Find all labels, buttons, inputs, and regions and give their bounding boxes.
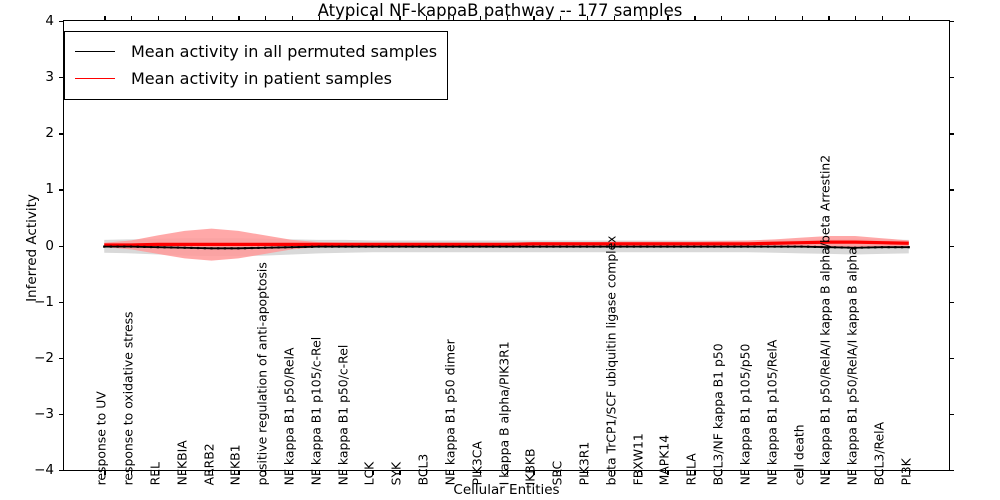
y-tick-mark-right (949, 414, 954, 415)
permuted-data-marker (881, 246, 883, 248)
y-tick-mark (59, 189, 64, 190)
x-tick-mark-top (909, 16, 910, 21)
permuted-data-marker (552, 246, 554, 248)
x-tick-label: PIK3CA (471, 441, 483, 485)
permuted-data-marker (814, 246, 816, 248)
permuted-data-marker (452, 246, 454, 248)
permuted-data-marker (874, 246, 876, 248)
x-tick-label: response to oxidative stress (123, 312, 135, 486)
y-tick-label: 0 (14, 238, 54, 254)
x-tick-mark-top (855, 16, 856, 21)
permuted-data-marker (318, 246, 320, 248)
y-tick-mark-right (949, 246, 954, 247)
x-tick-mark-top (507, 16, 508, 21)
permuted-data-marker (170, 246, 172, 248)
permuted-data-marker (432, 246, 434, 248)
y-tick-label: 3 (14, 69, 54, 85)
x-tick-label: NF kappa B1 p105/p50 (739, 344, 751, 486)
permuted-data-marker (458, 246, 460, 248)
y-tick-mark-right (949, 302, 954, 303)
x-tick-label: FBXW11 (632, 433, 644, 485)
permuted-data-marker (908, 246, 910, 248)
permuted-data-marker (532, 246, 534, 248)
x-tick-mark-top (212, 16, 213, 21)
permuted-data-marker (244, 247, 246, 249)
permuted-data-marker (727, 246, 729, 248)
permuted-data-marker (505, 246, 507, 248)
x-tick-mark-top (614, 16, 615, 21)
x-tick-label: NF kappa B1 p50/RelA (284, 348, 296, 486)
legend-label: Mean activity in patient samples (131, 69, 392, 88)
permuted-data-marker (365, 246, 367, 248)
permuted-data-marker (599, 246, 601, 248)
permuted-data-marker (479, 246, 481, 248)
legend-line-swatch (75, 51, 115, 52)
permuted-data-marker (861, 247, 863, 249)
y-tick-mark (59, 133, 64, 134)
x-tick-label: NF kappa B1 p105/RelA (766, 340, 778, 486)
permuted-data-marker (237, 247, 239, 249)
x-tick-label: NF kappa B1 p50/c-Rel (337, 345, 349, 486)
permuted-data-marker (184, 247, 186, 249)
permuted-data-marker (572, 246, 574, 248)
y-tick-label: 1 (14, 181, 54, 197)
permuted-data-marker (157, 246, 159, 248)
x-tick-mark-top (882, 16, 883, 21)
permuted-data-marker (385, 246, 387, 248)
x-tick-label: I kappa B alpha/PIK3R1 (498, 341, 510, 485)
permuted-data-marker (526, 246, 528, 248)
permuted-data-marker (217, 247, 219, 249)
permuted-data-marker (398, 246, 400, 248)
permuted-data-marker (646, 246, 648, 248)
permuted-data-marker (626, 246, 628, 248)
permuted-data-marker (713, 246, 715, 248)
permuted-data-marker (445, 246, 447, 248)
permuted-data-marker (485, 246, 487, 248)
permuted-data-marker (780, 246, 782, 248)
permuted-data-marker (378, 246, 380, 248)
y-tick-mark-right (949, 470, 954, 471)
chart-legend: Mean activity in all permuted samplesMea… (64, 31, 448, 100)
y-tick-mark (59, 246, 64, 247)
permuted-data-marker (412, 246, 414, 248)
permuted-data-marker (593, 246, 595, 248)
x-tick-mark-top (694, 16, 695, 21)
x-tick-mark-top (399, 16, 400, 21)
x-tick-label: NF kappa B1 p50 dimer (444, 339, 456, 485)
permuted-data-marker (291, 246, 293, 248)
permuted-data-marker (405, 246, 407, 248)
x-tick-mark-top (158, 16, 159, 21)
permuted-data-marker (639, 246, 641, 248)
permuted-data-marker (740, 246, 742, 248)
permuted-data-marker (733, 246, 735, 248)
permuted-data-marker (103, 246, 105, 248)
permuted-data-marker (760, 246, 762, 248)
x-tick-label: BCL3/NF kappa B1 p50 (713, 343, 725, 485)
permuted-data-marker (338, 246, 340, 248)
permuted-data-marker (841, 246, 843, 248)
permuted-data-marker (331, 246, 333, 248)
x-tick-mark-top (480, 16, 481, 21)
permuted-data-marker (163, 246, 165, 248)
x-tick-mark-top (667, 16, 668, 21)
permuted-data-marker (224, 247, 226, 249)
x-tick-mark-top (828, 16, 829, 21)
permuted-data-marker (800, 246, 802, 248)
x-tick-label: RELA (686, 453, 698, 485)
y-tick-label: 4 (14, 13, 54, 29)
permuted-data-marker (251, 247, 253, 249)
permuted-data-marker (619, 246, 621, 248)
x-tick-mark-top (292, 16, 293, 21)
permuted-data-marker (264, 247, 266, 249)
x-tick-mark-top (319, 16, 320, 21)
y-tick-label: −2 (14, 350, 54, 366)
x-tick-label: response to UV (96, 391, 108, 485)
permuted-data-marker (210, 247, 212, 249)
permuted-data-marker (231, 247, 233, 249)
x-tick-mark-top (426, 16, 427, 21)
y-tick-mark-right (949, 21, 954, 22)
permuted-data-marker (284, 246, 286, 248)
permuted-data-marker (512, 246, 514, 248)
permuted-data-marker (110, 246, 112, 248)
x-tick-mark-top (265, 16, 266, 21)
permuted-data-marker (579, 246, 581, 248)
permuted-data-marker (794, 246, 796, 248)
x-tick-label: cell death (793, 424, 805, 485)
permuted-data-marker (767, 246, 769, 248)
permuted-data-marker (566, 246, 568, 248)
permuted-data-marker (143, 246, 145, 248)
permuted-data-marker (586, 246, 588, 248)
x-tick-label: BCL3/RelA (874, 422, 886, 486)
permuted-data-marker (774, 246, 776, 248)
permuted-data-marker (465, 246, 467, 248)
x-tick-label: beta TrCP1/SCF ubiquitin ligase complex (605, 236, 617, 486)
x-tick-label: NF kappa B1 p50/RelA/I kappa B alpha (847, 247, 859, 485)
permuted-data-marker (867, 246, 869, 248)
x-tick-label: NF kappa B1 p50/RelA/I kappa B alpha/bet… (820, 155, 832, 486)
y-tick-mark-right (949, 77, 954, 78)
y-tick-mark (59, 470, 64, 471)
permuted-data-marker (499, 246, 501, 248)
permuted-data-marker (277, 246, 279, 248)
y-tick-mark-right (949, 358, 954, 359)
permuted-data-marker (391, 246, 393, 248)
permuted-data-marker (271, 247, 273, 249)
legend-label: Mean activity in all permuted samples (131, 42, 437, 61)
permuted-data-marker (304, 246, 306, 248)
y-tick-label: 2 (14, 125, 54, 141)
permuted-data-marker (787, 246, 789, 248)
permuted-data-marker (197, 247, 199, 249)
legend-line-swatch (75, 78, 115, 79)
x-tick-mark-top (721, 16, 722, 21)
permuted-data-marker (298, 246, 300, 248)
permuted-data-marker (519, 246, 521, 248)
legend-item: Mean activity in patient samples (75, 65, 437, 92)
x-tick-label: BCL3 (418, 454, 430, 486)
permuted-data-marker (747, 246, 749, 248)
permuted-data-marker (686, 246, 688, 248)
x-tick-mark-top (748, 16, 749, 21)
permuted-data-marker (894, 246, 896, 248)
x-tick-mark-top (533, 16, 534, 21)
chart-title: Atypical NF-kappaB pathway -- 177 sample… (0, 1, 1000, 20)
y-tick-label: −4 (14, 462, 54, 478)
x-tick-label: NFKBIA (176, 440, 188, 485)
permuted-data-marker (123, 246, 125, 248)
permuted-data-marker (753, 246, 755, 248)
y-tick-mark (59, 302, 64, 303)
x-tick-label: PIK3R1 (579, 442, 591, 486)
x-tick-mark-top (238, 16, 239, 21)
x-tick-label: ARRB2 (203, 443, 215, 485)
y-tick-label: −3 (14, 406, 54, 422)
permuted-data-marker (425, 246, 427, 248)
x-tick-mark-top (453, 16, 454, 21)
permuted-data-marker (807, 246, 809, 248)
x-tick-mark-top (372, 16, 373, 21)
x-tick-mark-top (560, 16, 561, 21)
permuted-data-marker (559, 246, 561, 248)
permuted-data-marker (693, 246, 695, 248)
permuted-data-marker (150, 246, 152, 248)
permuted-data-marker (834, 246, 836, 248)
permuted-data-marker (680, 246, 682, 248)
y-tick-mark-right (949, 189, 954, 190)
permuted-data-marker (472, 246, 474, 248)
permuted-data-marker (901, 246, 903, 248)
permuted-data-marker (546, 246, 548, 248)
permuted-data-marker (707, 246, 709, 248)
x-tick-label: positive regulation of anti-apoptosis (257, 262, 269, 485)
permuted-data-marker (492, 246, 494, 248)
x-tick-label: NFKB1 (230, 445, 242, 486)
permuted-data-marker (324, 246, 326, 248)
y-tick-mark (59, 21, 64, 22)
x-tick-mark-top (641, 16, 642, 21)
permuted-data-marker (344, 246, 346, 248)
x-tick-label: MAPK14 (659, 435, 671, 486)
legend-item: Mean activity in all permuted samples (75, 38, 437, 65)
permuted-data-marker (371, 246, 373, 248)
y-tick-label: −1 (14, 294, 54, 310)
x-tick-mark-top (104, 16, 105, 21)
y-tick-mark (59, 414, 64, 415)
permuted-data-marker (438, 246, 440, 248)
y-tick-mark (59, 358, 64, 359)
permuted-data-marker (177, 247, 179, 249)
permuted-data-marker (137, 246, 139, 248)
permuted-data-marker (130, 246, 132, 248)
permuted-data-marker (633, 246, 635, 248)
permuted-data-marker (358, 246, 360, 248)
x-axis-label: Cellular Entities (63, 482, 950, 498)
permuted-data-marker (190, 247, 192, 249)
permuted-data-marker (351, 246, 353, 248)
x-tick-mark-top (587, 16, 588, 21)
x-tick-mark-top (131, 16, 132, 21)
permuted-data-marker (720, 246, 722, 248)
permuted-data-marker (418, 246, 420, 248)
permuted-data-marker (204, 247, 206, 249)
permuted-data-marker (311, 246, 313, 248)
permuted-data-marker (117, 246, 119, 248)
permuted-data-marker (700, 246, 702, 248)
x-tick-label: IKBKB (525, 449, 537, 486)
x-tick-mark-top (802, 16, 803, 21)
permuted-data-marker (539, 246, 541, 248)
permuted-data-marker (666, 246, 668, 248)
permuted-data-marker (257, 247, 259, 249)
permuted-data-marker (888, 246, 890, 248)
x-tick-mark-top (185, 16, 186, 21)
permuted-data-marker (653, 246, 655, 248)
permuted-data-marker (673, 246, 675, 248)
x-tick-mark-top (775, 16, 776, 21)
x-tick-mark-top (346, 16, 347, 21)
figure-canvas: Atypical NF-kappaB pathway -- 177 sample… (0, 0, 1000, 500)
y-tick-mark-right (949, 133, 954, 134)
x-tick-label: NF kappa B1 p105/c-Rel (310, 337, 322, 486)
permuted-data-marker (660, 246, 662, 248)
